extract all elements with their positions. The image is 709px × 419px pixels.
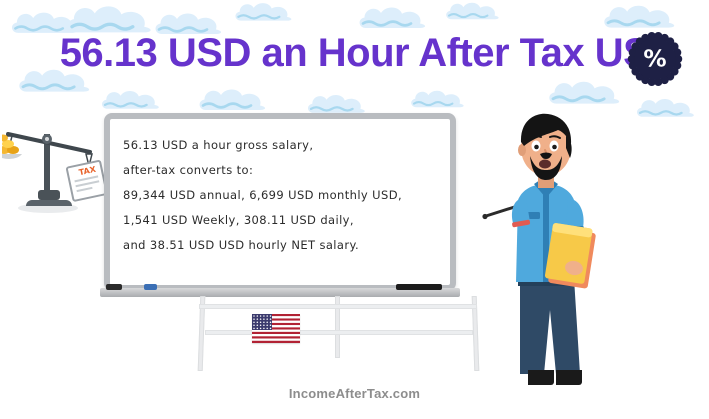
- eraser-black: [396, 284, 442, 290]
- stand-rail-mid: [205, 330, 473, 335]
- cloud-icon: [404, 88, 472, 112]
- site-footer: IncomeAfterTax.com: [0, 386, 709, 401]
- cloud-icon: [190, 86, 276, 116]
- page-title: 56.13 USD an Hour After Tax US: [60, 31, 650, 76]
- board-line: after-tax converts to:: [123, 158, 450, 183]
- board-line: 89,344 USD annual, 6,699 USD monthly USD…: [123, 183, 450, 208]
- whiteboard-stand: [195, 296, 495, 371]
- marker-black: [106, 284, 122, 290]
- title-bar: 56.13 USD an Hour After Tax US: [0, 24, 709, 82]
- stand-rail-top: [199, 304, 477, 309]
- cloud-icon: [440, 0, 506, 24]
- percent-badge-icon: %: [626, 30, 684, 88]
- us-flag-icon: [252, 314, 300, 343]
- cloud-icon: [540, 78, 630, 110]
- balance-scale-icon: TAX: [2, 112, 106, 216]
- cloud-icon: [630, 96, 702, 122]
- poster-stage: 56.13 USD an Hour After Tax US %: [0, 0, 709, 419]
- cloud-icon: [232, 0, 296, 26]
- board-line: 1,541 USD Weekly, 308.11 USD daily,: [123, 208, 450, 233]
- whiteboard-surface: 56.13 USD a hour gross salary, after-tax…: [110, 119, 450, 285]
- board-line: 56.13 USD a hour gross salary,: [123, 133, 450, 158]
- board-line: and 38.51 USD USD hourly NET salary.: [123, 233, 450, 258]
- marker-blue: [144, 284, 157, 290]
- svg-text:%: %: [643, 46, 666, 73]
- cloud-icon: [96, 88, 166, 114]
- teacher-character: [478, 108, 614, 393]
- whiteboard: 56.13 USD a hour gross salary, after-tax…: [104, 113, 456, 291]
